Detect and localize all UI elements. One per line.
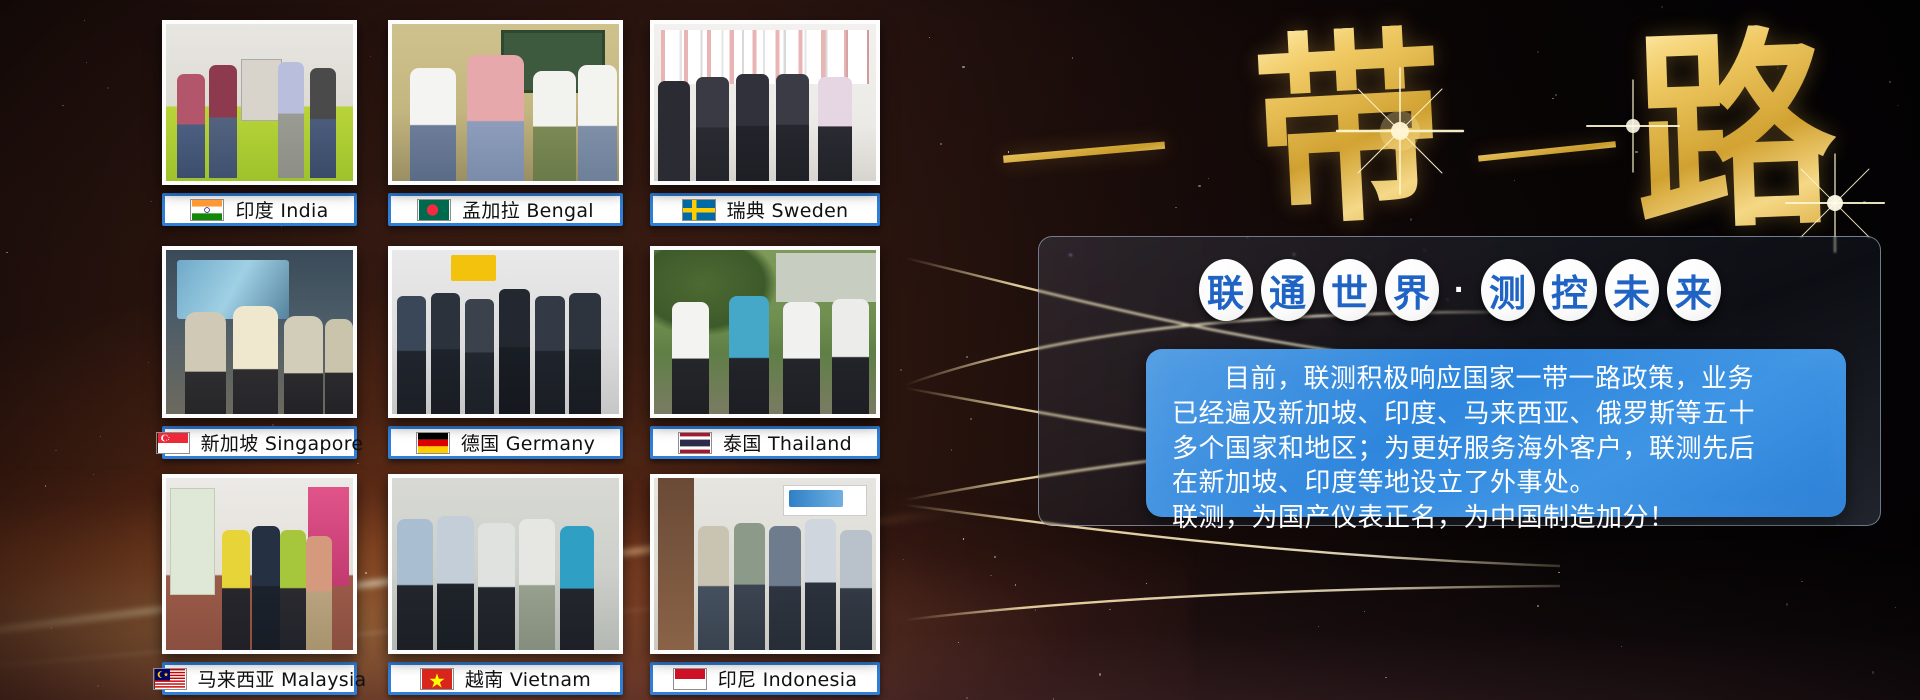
photo-germany <box>388 246 623 418</box>
gallery-caption: 马来西亚 Malaysia <box>162 662 357 695</box>
gallery-item-thailand[interactable]: 泰国 Thailand <box>650 246 880 459</box>
gallery-item-bengal[interactable]: 孟加拉 Bengal <box>388 20 623 226</box>
gallery-caption: 泰国 Thailand <box>650 426 880 459</box>
gallery-caption: 瑞典 Sweden <box>650 193 880 226</box>
flag-india-icon <box>190 199 224 221</box>
description-line-1: 目前，联测积极响应国家一带一路政策，业务 <box>1172 362 1820 397</box>
description-line-3: 多个国家和地区；为更好服务海外客户，联测先后 <box>1172 432 1820 467</box>
gallery-caption-label: 印尼 Indonesia <box>718 665 858 692</box>
gallery-caption-label: 越南 Vietnam <box>465 665 591 692</box>
description-line-5: 联测，为国产仪表正名，为中国制造加分！ <box>1172 501 1820 536</box>
flag-germany-icon <box>416 432 450 454</box>
tagline-char-2: 通 <box>1261 259 1315 321</box>
headline-char-4: 路 <box>1631 23 1840 242</box>
flag-indonesia-icon <box>673 668 707 690</box>
description-line-2: 已经遍及新加坡、印度、马来西亚、俄罗斯等五十 <box>1172 397 1820 432</box>
flag-sweden-icon <box>682 199 716 221</box>
gallery-caption: 孟加拉 Bengal <box>388 193 623 226</box>
photo-india <box>162 20 357 185</box>
gallery-caption-label: 印度 India <box>235 196 328 223</box>
gallery-caption: 新加坡 Singapore <box>162 426 357 459</box>
tagline-row: 联通世界·测控未来 <box>1039 258 1880 322</box>
photo-indonesia <box>650 474 880 654</box>
tagline-separator: · <box>1447 259 1473 321</box>
gallery-item-malaysia[interactable]: 马来西亚 Malaysia <box>162 474 357 695</box>
gallery-item-indonesia[interactable]: 印尼 Indonesia <box>650 474 880 695</box>
headline-char-2: 带 <box>1250 23 1449 238</box>
banner-stage: 印度 India 孟加拉 Bengal 瑞典 Sweden 新加坡 Singap… <box>0 0 1920 700</box>
tagline-char-8: 未 <box>1605 259 1659 321</box>
headline-char-3: 一 <box>1472 120 1623 189</box>
gallery-caption-label: 孟加拉 Bengal <box>462 196 594 223</box>
description-box: 目前，联测积极响应国家一带一路政策，业务 已经遍及新加坡、印度、马来西亚、俄罗斯… <box>1146 349 1846 517</box>
gallery-item-sweden[interactable]: 瑞典 Sweden <box>650 20 880 226</box>
right-content: 一 带 一 路 <box>1015 0 1920 700</box>
tagline-char-1: 联 <box>1199 259 1253 321</box>
photo-malaysia <box>162 474 357 654</box>
photo-singapore <box>162 246 357 418</box>
gallery-caption-label: 泰国 Thailand <box>723 429 852 456</box>
tagline-char-9: 来 <box>1667 259 1721 321</box>
flag-vietnam-icon <box>420 668 454 690</box>
description-line-4: 在新加坡、印度等地设立了外事处。 <box>1172 466 1820 501</box>
photo-vietnam <box>388 474 623 654</box>
gallery-caption: 德国 Germany <box>388 426 623 459</box>
tagline-char-6: 测 <box>1481 259 1535 321</box>
gallery-caption-label: 新加坡 Singapore <box>201 429 364 456</box>
gallery-caption: 印度 India <box>162 193 357 226</box>
gallery-caption-label: 德国 Germany <box>461 429 595 456</box>
flag-bangladesh-icon <box>417 199 451 221</box>
gallery-item-singapore[interactable]: 新加坡 Singapore <box>162 246 357 459</box>
photo-bengal <box>388 20 623 185</box>
tagline-char-7: 控 <box>1543 259 1597 321</box>
country-photo-grid: 印度 India 孟加拉 Bengal 瑞典 Sweden 新加坡 Singap… <box>160 14 930 692</box>
flag-singapore-icon <box>156 432 190 454</box>
tagline-char-3: 世 <box>1323 259 1377 321</box>
gallery-caption: 印尼 Indonesia <box>650 662 880 695</box>
flag-malaysia-icon <box>153 668 187 690</box>
gallery-caption-label: 瑞典 Sweden <box>727 196 849 223</box>
tagline-char-4: 界 <box>1385 259 1439 321</box>
flag-thailand-icon <box>678 432 712 454</box>
photo-sweden <box>650 20 880 185</box>
gallery-caption-label: 马来西亚 Malaysia <box>198 665 367 692</box>
gallery-item-india[interactable]: 印度 India <box>162 20 357 226</box>
gallery-item-germany[interactable]: 德国 Germany <box>388 246 623 459</box>
gallery-caption: 越南 Vietnam <box>388 662 623 695</box>
gallery-item-vietnam[interactable]: 越南 Vietnam <box>388 474 623 695</box>
photo-thailand <box>650 246 880 418</box>
info-panel: 联通世界·测控未来 目前，联测积极响应国家一带一路政策，业务 已经遍及新加坡、印… <box>1038 236 1881 526</box>
belt-and-road-headline: 一 带 一 路 <box>1025 18 1905 233</box>
headline-char-1: 一 <box>996 115 1172 195</box>
